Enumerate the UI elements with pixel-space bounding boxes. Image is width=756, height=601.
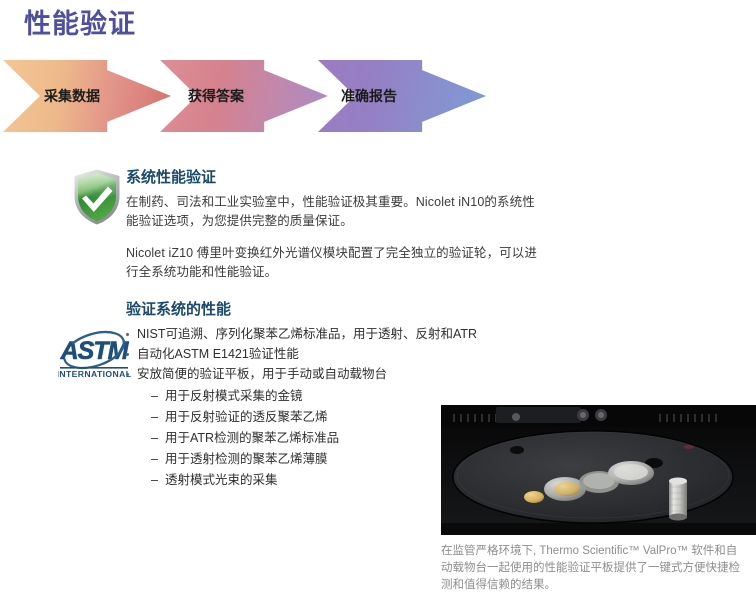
process-step-arrow-2	[160, 60, 328, 132]
validation-wheel-photo	[441, 405, 756, 535]
process-step-label-2: 获得答案	[188, 60, 244, 132]
photo-caption: 在监管严格环境下, Thermo Scientific™ ValPro™ 软件和…	[441, 543, 741, 594]
sub-list-item: 用于反射模式采集的金镜	[137, 386, 544, 407]
list-item: 自动化ASTM E1421验证性能	[126, 345, 544, 364]
page-title: 性能验证	[24, 4, 136, 44]
section-paragraph-2: Nicolet iZ10 傅里叶变换红外光谱仪模块配置了完全独立的验证轮，可以进…	[126, 244, 544, 282]
section-heading: 验证系统的性能	[126, 300, 544, 320]
bullet-text: 自动化ASTM E1421验证性能	[137, 347, 299, 361]
astm-international-logo: ASTM INTERNATIONAL	[58, 328, 131, 380]
svg-text:ASTM: ASTM	[60, 337, 130, 365]
section-heading: 系统性能验证	[126, 168, 544, 188]
list-item: NIST可追溯、序列化聚苯乙烯标准品，用于透射、反射和ATR	[126, 325, 544, 344]
bullet-text: 安放简便的验证平板，用于手动或自动载物台	[137, 367, 387, 381]
svg-text:INTERNATIONAL: INTERNATIONAL	[58, 369, 131, 379]
section-body: 系统性能验证 在制药、司法和工业实验室中，性能验证极其重要。Nicolet iN…	[126, 168, 544, 295]
process-step-label-3: 准确报告	[341, 60, 397, 132]
process-flow-diagram: 采集数据 获得答案 准确报告	[0, 60, 500, 136]
process-step-label-1: 采集数据	[44, 60, 100, 132]
bullet-text: NIST可追溯、序列化聚苯乙烯标准品，用于透射、反射和ATR	[137, 327, 477, 341]
section-paragraph-1: 在制药、司法和工业实验室中，性能验证极其重要。Nicolet iN10的系统性能…	[126, 193, 544, 231]
green-shield-check-icon	[72, 168, 122, 226]
